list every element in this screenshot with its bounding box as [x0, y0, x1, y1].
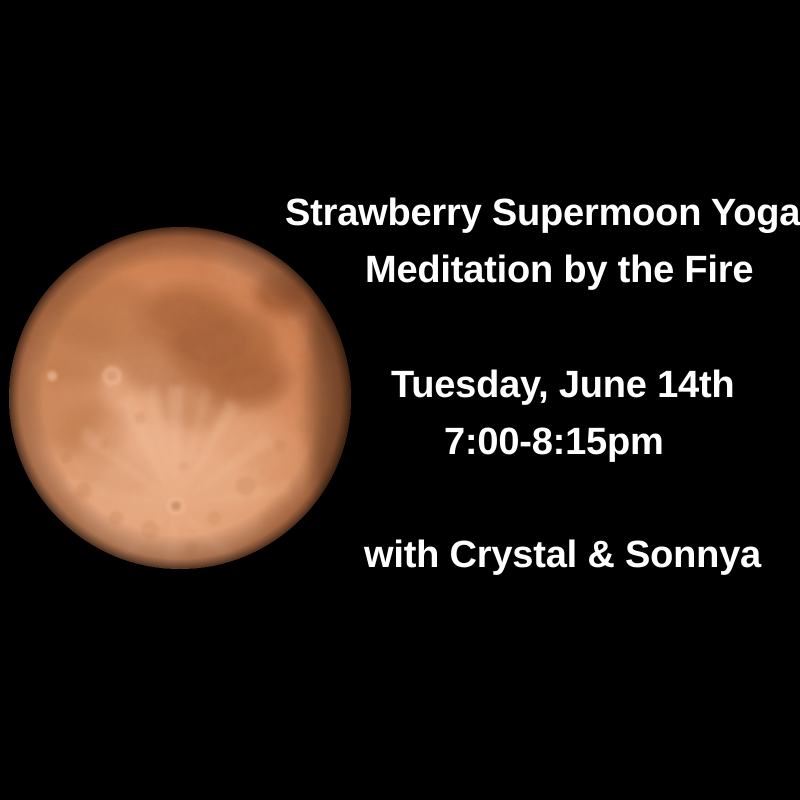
- event-title-line-2: Meditation by the Fire: [365, 251, 753, 289]
- event-date: Tuesday, June 14th: [391, 366, 734, 404]
- moon-surface-features: [8, 218, 353, 579]
- moon-graphic: [8, 218, 353, 579]
- event-hosts: with Crystal & Sonnya: [364, 536, 761, 574]
- event-title-line-1: Strawberry Supermoon Yoga &: [285, 194, 800, 232]
- right-limb-shadow: [308, 218, 353, 566]
- poster-canvas: Strawberry Supermoon Yoga & Meditation b…: [0, 0, 800, 800]
- strawberry-supermoon-image: [8, 218, 353, 579]
- limb-darkening: [9, 227, 351, 569]
- event-time: 7:00-8:15pm: [444, 423, 664, 461]
